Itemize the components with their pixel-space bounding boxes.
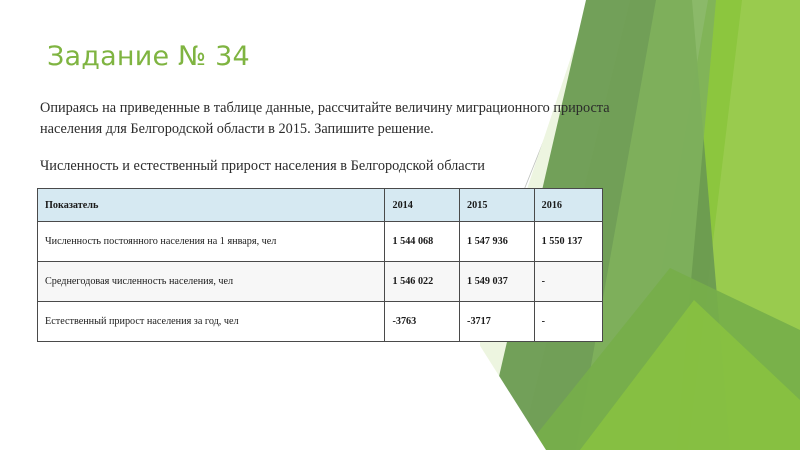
shape-lime-bright — [630, 0, 800, 450]
body-text-block: Опираясь на приведенные в таблице данные… — [40, 98, 625, 177]
data-table-container: Показатель 2014 2015 2016 Численность по… — [37, 188, 603, 342]
cell-2015: -3717 — [460, 302, 535, 342]
slide-canvas: Задание № 34 Опираясь на приведенные в т… — [0, 0, 800, 450]
column-header-2014: 2014 — [385, 189, 460, 222]
row-label: Численность постоянного населения на 1 я… — [38, 222, 385, 262]
row-label: Естественный прирост населения за год, ч… — [38, 302, 385, 342]
intro-paragraph: Опираясь на приведенные в таблице данные… — [40, 98, 625, 140]
table-header: Показатель 2014 2015 2016 — [38, 189, 603, 222]
cell-2014: 1 544 068 — [385, 222, 460, 262]
table-body: Численность постоянного населения на 1 я… — [38, 222, 603, 342]
table-row: Численность постоянного населения на 1 я… — [38, 222, 603, 262]
cell-2015: 1 547 936 — [460, 222, 535, 262]
row-label: Среднегодовая численность населения, чел — [38, 262, 385, 302]
cell-2016: - — [534, 302, 602, 342]
cell-2016: 1 550 137 — [534, 222, 602, 262]
cell-2014: -3763 — [385, 302, 460, 342]
slide-title: Задание № 34 — [47, 41, 250, 72]
population-data-table: Показатель 2014 2015 2016 Численность по… — [37, 188, 603, 342]
table-caption: Численность и естественный прирост насел… — [40, 156, 625, 177]
cell-2014: 1 546 022 — [385, 262, 460, 302]
shape-lime-light — [688, 0, 800, 450]
shape-lime-fan — [580, 300, 800, 450]
table-row: Среднегодовая численность населения, чел… — [38, 262, 603, 302]
cell-2016: - — [534, 262, 602, 302]
shape-white-notch — [480, 330, 546, 450]
table-row: Естественный прирост населения за год, ч… — [38, 302, 603, 342]
cell-2015: 1 549 037 — [460, 262, 535, 302]
table-header-row: Показатель 2014 2015 2016 — [38, 189, 603, 222]
column-header-2015: 2015 — [460, 189, 535, 222]
column-header-2016: 2016 — [534, 189, 602, 222]
column-header-indicator: Показатель — [38, 189, 385, 222]
